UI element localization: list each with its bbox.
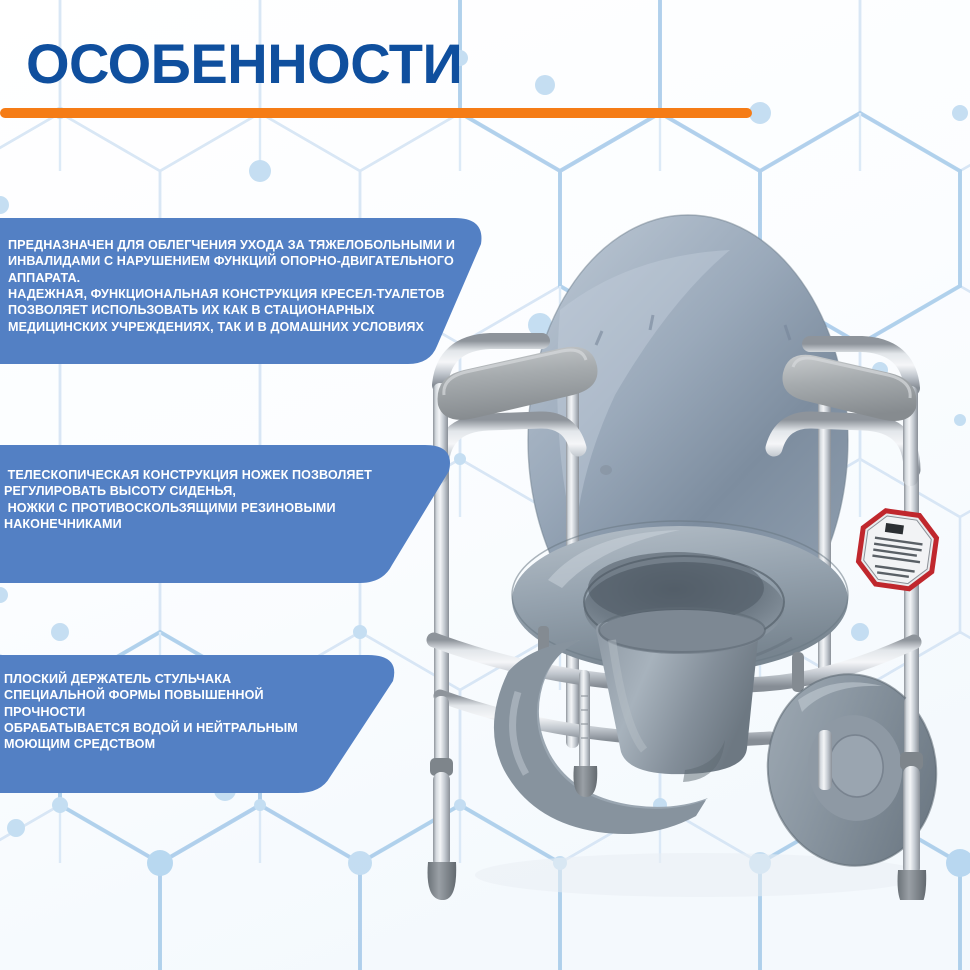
page-title: ОСОБЕННОСТИ bbox=[26, 36, 462, 92]
warning-label bbox=[856, 508, 940, 592]
bucket bbox=[596, 608, 765, 782]
feature-panel-purpose-text: ПРЕДНАЗНАЧЕН ДЛЯ ОБЛЕГЧЕНИЯ УХОДА ЗА ТЯЖ… bbox=[0, 218, 485, 335]
page-title-block: ОСОБЕННОСТИ bbox=[26, 36, 462, 92]
feature-panel-telescopic-legs: ТЕЛЕСКОПИЧЕСКАЯ КОНСТРУКЦИЯ НОЖЕК ПОЗВОЛ… bbox=[0, 445, 455, 583]
rear-leg-right bbox=[818, 730, 832, 790]
feature-panel-seat-holder: ПЛОСКИЙ ДЕРЖАТЕЛЬ СТУЛЬЧАКА СПЕЦИАЛЬНОЙ … bbox=[0, 655, 400, 793]
feature-panel-seat-holder-text: ПЛОСКИЙ ДЕРЖАТЕЛЬ СТУЛЬЧАКА СПЕЦИАЛЬНОЙ … bbox=[0, 655, 400, 753]
commode-chair-product-image bbox=[400, 140, 970, 900]
front-leg-left bbox=[428, 696, 457, 900]
title-underline-rule bbox=[0, 108, 752, 118]
feature-panel-purpose: ПРЕДНАЗНАЧЕН ДЛЯ ОБЛЕГЧЕНИЯ УХОДА ЗА ТЯЖ… bbox=[0, 218, 485, 364]
infographic-page: ОСОБЕННОСТИ ПРЕДНАЗНАЧЕН ДЛЯ ОБЛЕГЧЕНИЯ … bbox=[0, 0, 970, 970]
feature-panel-telescopic-legs-text: ТЕЛЕСКОПИЧЕСКАЯ КОНСТРУКЦИЯ НОЖЕК ПОЗВОЛ… bbox=[0, 445, 455, 532]
